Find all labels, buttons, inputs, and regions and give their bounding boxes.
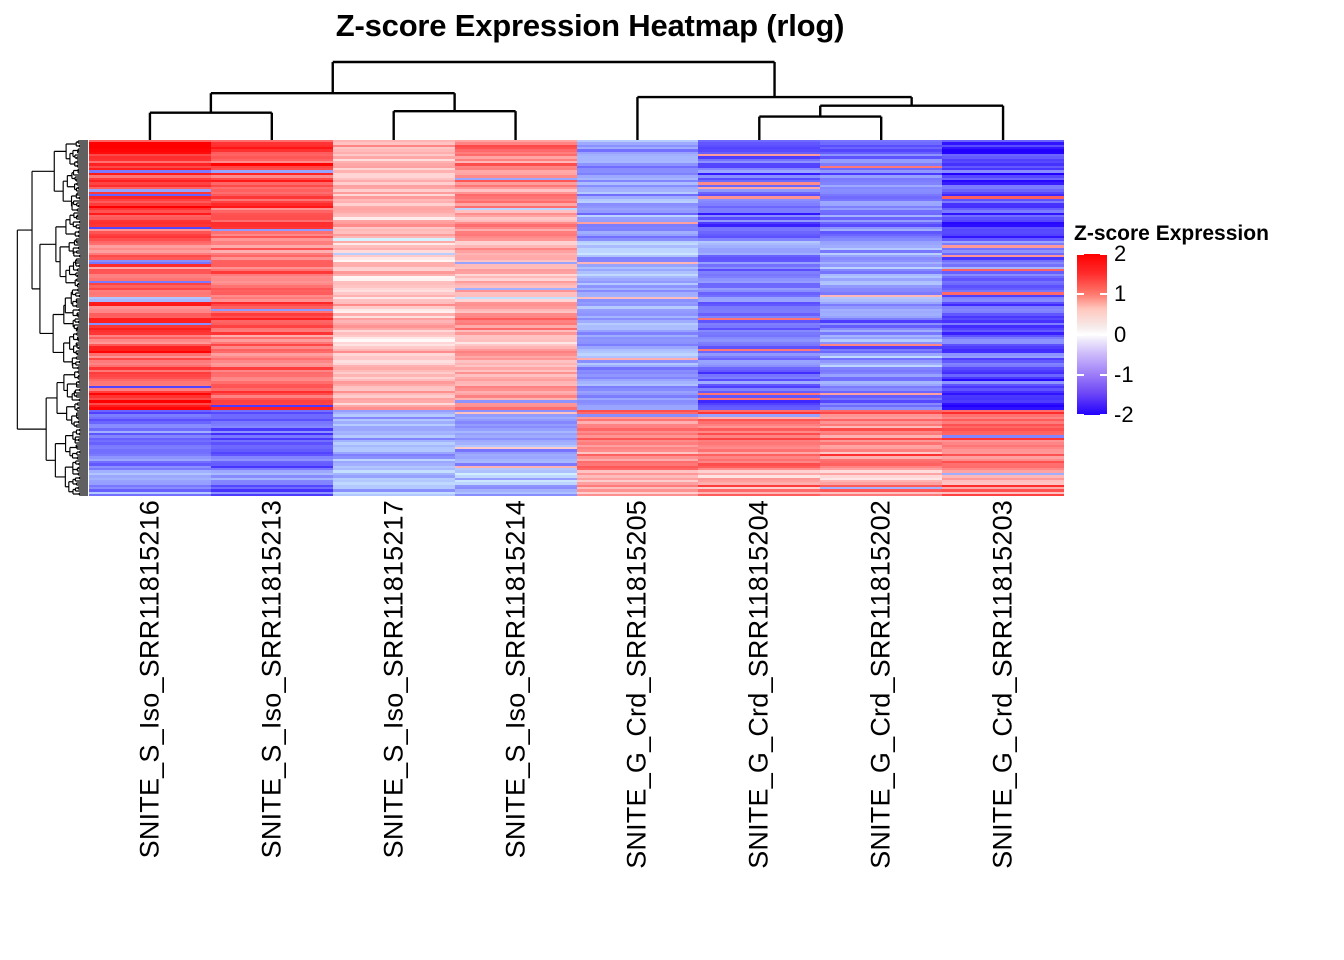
heatmap-column [698,140,820,496]
legend-tick-label: -1 [1114,364,1134,386]
heatmap-column [577,140,699,496]
legend-tick-label: 2 [1114,243,1126,265]
column-label-3: SNITE_S_Iso_SRR11815214 [455,500,577,940]
legend-tick-label: -2 [1114,404,1134,426]
column-label-text: SNITE_G_Crd_SRR11815202 [866,500,897,869]
legend-tick-label: 0 [1114,324,1126,346]
heatmap-column [942,140,1064,496]
column-label-text: SNITE_S_Iso_SRR11815214 [500,500,531,858]
heatmap-column [455,140,577,496]
legend-title: Z-score Expression [1074,222,1334,246]
column-label-5: SNITE_G_Crd_SRR11815204 [698,500,820,940]
column-label-0: SNITE_S_Iso_SRR11815216 [89,500,211,940]
column-label-text: SNITE_G_Crd_SRR11815205 [622,500,653,869]
legend: Z-score Expression 210-1-2 [1074,222,1334,454]
heatmap-column [333,140,455,496]
column-label-2: SNITE_S_Iso_SRR11815217 [333,500,455,940]
column-label-1: SNITE_S_Iso_SRR11815213 [211,500,333,940]
page-title: Z-score Expression Heatmap (rlog) [0,8,1180,44]
heatmap-column [820,140,942,496]
column-labels: SNITE_S_Iso_SRR11815216SNITE_S_Iso_SRR11… [89,500,1064,940]
column-label-text: SNITE_G_Crd_SRR11815203 [988,500,1019,869]
heatmap-column [89,140,211,496]
column-label-4: SNITE_G_Crd_SRR11815205 [577,500,699,940]
column-label-text: SNITE_S_Iso_SRR11815216 [134,500,165,858]
legend-tick-label: 1 [1114,283,1126,305]
column-label-text: SNITE_S_Iso_SRR11815213 [256,500,287,858]
column-label-text: SNITE_G_Crd_SRR11815204 [744,500,775,869]
column-label-6: SNITE_G_Crd_SRR11815202 [820,500,942,940]
heatmap-grid [89,140,1064,496]
heatmap-figure: Z-score Expression Heatmap (rlog) SNITE_… [0,0,1344,960]
column-label-7: SNITE_G_Crd_SRR11815203 [942,500,1064,940]
row-dendrogram [14,140,88,496]
heatmap-column [211,140,333,496]
column-label-text: SNITE_S_Iso_SRR11815217 [378,500,409,858]
column-dendrogram [89,58,1064,140]
legend-body: 210-1-2 [1074,254,1334,454]
